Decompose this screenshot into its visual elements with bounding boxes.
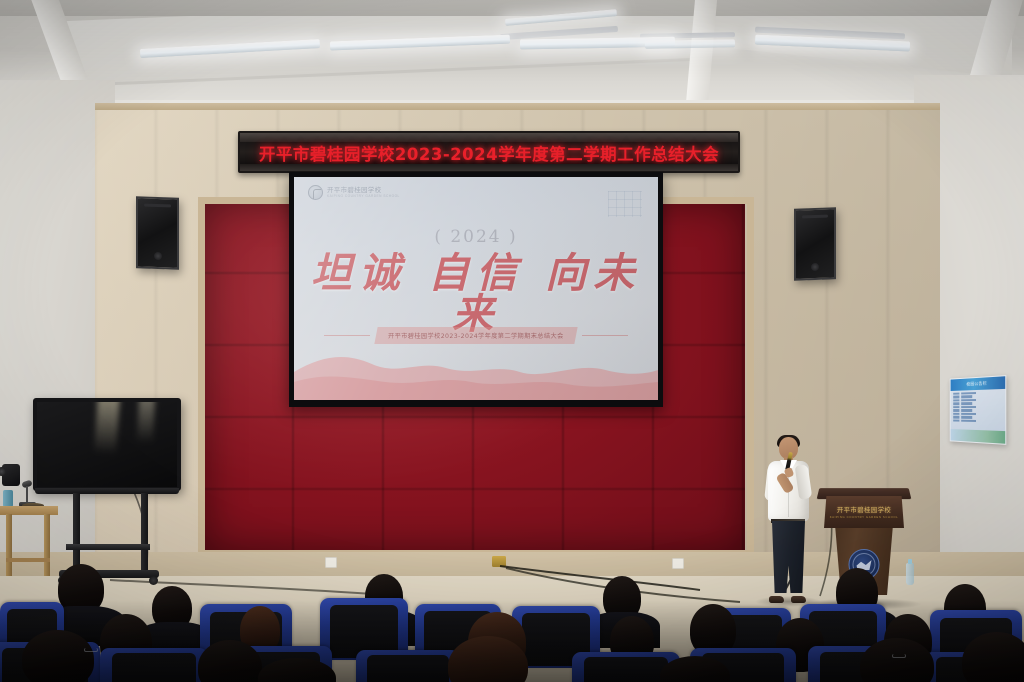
- slide-logo-name-cn: 开平市碧桂园学校: [327, 187, 400, 194]
- camera-on-table: [2, 464, 20, 486]
- divider-line: [324, 335, 370, 336]
- slide-year: ( 2024 ): [294, 227, 658, 247]
- eyeglasses-icon: [892, 654, 906, 658]
- wall-poster[interactable]: 校园公告栏: [950, 375, 1007, 445]
- display-stand-shelf: [66, 544, 150, 550]
- ceiling-beam-front: [0, 0, 1024, 16]
- audience-head: [22, 630, 94, 682]
- auditorium-seat[interactable]: [100, 648, 208, 682]
- poster-title: 校园公告栏: [966, 380, 987, 387]
- podium-name-en: KAIPING COUNTRY GARDEN SCHOOL: [830, 515, 899, 519]
- poster-footer-graphic: [951, 429, 1006, 444]
- poster-rows: [951, 389, 1006, 425]
- podium-name-cn: 开平市碧桂园学校: [837, 505, 891, 514]
- podium-nameplate: 开平市碧桂园学校 KAIPING COUNTRY GARDEN SCHOOL: [824, 496, 904, 528]
- poster-row: [953, 398, 1003, 401]
- flat-panel-display-screen[interactable]: [33, 398, 181, 491]
- audience-area: [0, 556, 1024, 682]
- divider-line: [582, 335, 628, 336]
- wall-speaker-right: [794, 207, 836, 280]
- school-crest-icon: [308, 185, 323, 200]
- wall-trim: [95, 103, 940, 110]
- slide-mountain-graphic: [294, 338, 658, 400]
- poster-row: [953, 409, 1003, 411]
- slide-school-logo: 开平市碧桂园学校 KAIPING COUNTRY GARDEN SCHOOL: [308, 185, 400, 200]
- slide-grid-decoration: [608, 191, 642, 217]
- slide-logo-name-en: KAIPING COUNTRY GARDEN SCHOOL: [327, 195, 400, 198]
- led-banner-text: 开平市碧桂园学校2023-2024学年度第二学期工作总结大会: [259, 141, 719, 165]
- auditorium-seat[interactable]: [356, 650, 460, 682]
- slide-headline: 坦诚 自信 向未来: [294, 253, 658, 335]
- projection-screen: 开平市碧桂园学校 KAIPING COUNTRY GARDEN SCHOOL (…: [294, 177, 658, 400]
- display-bezel-bottom: [35, 488, 179, 494]
- wall-speaker-left: [136, 196, 179, 270]
- ceiling: [0, 0, 1024, 112]
- projection-screen-frame: 开平市碧桂园学校 KAIPING COUNTRY GARDEN SCHOOL (…: [289, 172, 663, 407]
- fluorescent-tube-light: [645, 39, 735, 49]
- poster-row: [953, 419, 1003, 422]
- eyeglasses-icon: [84, 648, 98, 652]
- led-banner: 开平市碧桂园学校2023-2024学年度第二学期工作总结大会: [238, 131, 740, 173]
- auditorium-photo: 开平市碧桂园学校2023-2024学年度第二学期工作总结大会 开平市碧桂园学校 …: [0, 0, 1024, 682]
- poster-row: [953, 402, 1003, 405]
- poster-row: [953, 413, 1003, 416]
- mountain-svg: [294, 338, 658, 400]
- poster-row: [953, 416, 1003, 419]
- poster-row: [953, 406, 1003, 408]
